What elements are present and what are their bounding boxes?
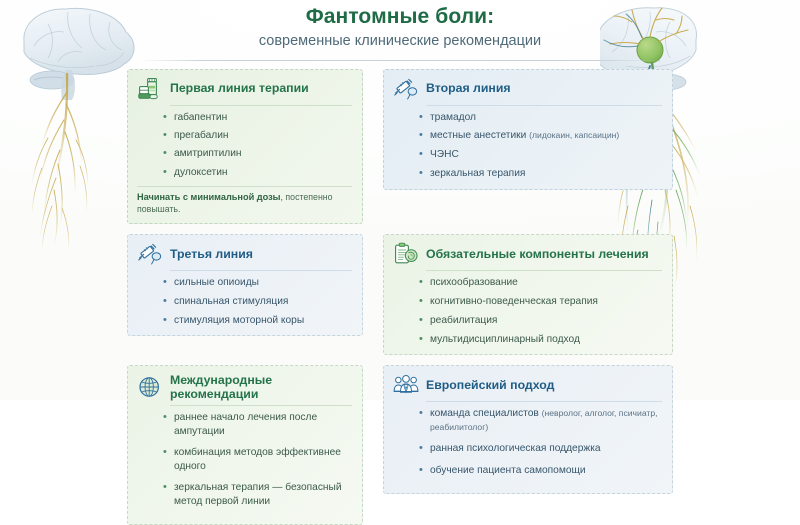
list-item: прегабалин [163,129,352,142]
list-item: спинальная стимуляция [163,295,352,308]
item-note: (лидокаин, капсаицин) [529,130,619,140]
list-item: мультидисциплинарный подход [419,333,662,346]
card-european-approach[interactable]: Европейский подход команда специалистов … [383,365,673,494]
list-item: стимуляция моторной коры [163,314,352,327]
card-title-divider [170,270,352,271]
clipboard-head-icon [393,242,419,266]
list-item: комбинация методов эффективнее одного [163,446,352,473]
page-header: Фантомные боли: современные клинические … [0,0,800,61]
list-item: психообразование [419,276,662,289]
page-title: Фантомные боли: [0,5,800,29]
card-header: Первая линия терапии [137,77,352,101]
list-item: зеркальная терапия [419,167,662,180]
header-divider [140,60,660,61]
card-header: Вторая линия [393,77,662,101]
card-item-list: сильные опиоиды спинальная стимуляция ст… [137,276,352,327]
card-title: Первая линия терапии [170,81,352,95]
card-third-line[interactable]: Третья линия сильные опиоиды спинальная … [127,234,363,336]
card-title-divider [426,401,662,402]
list-item: амитриптилин [163,147,352,160]
card-title: Европейский подход [426,378,662,392]
footer-emphasis: Начинать с минимальной дозы [137,192,281,202]
card-first-line-therapy[interactable]: Первая линия терапии габапентин прегабал… [127,69,363,224]
list-item: сильные опиоиды [163,276,352,289]
page-subtitle: современные клинические рекомендации [0,33,800,50]
list-item: ЧЭНС [419,148,662,161]
team-people-icon [393,373,419,397]
list-item: команда специалистов (невролог, алголог,… [419,407,662,434]
syringe-icon [393,77,419,101]
card-header: Международные рекомендации [137,373,352,401]
list-item: трамадол [419,111,662,124]
recommendations-grid: Первая линия терапии габапентин прегабал… [127,69,673,525]
card-title: Вторая линия [426,81,662,95]
card-title-divider [426,270,662,271]
card-mandatory-components[interactable]: Обязательные компоненты лечения психообр… [383,234,673,355]
list-item: ранная психологическая поддержка [419,442,662,455]
card-title-divider [426,105,662,106]
list-item: зеркальная терапия — безопасный метод пе… [163,481,352,508]
pill-bottle-icon [137,77,163,101]
list-item: реабилитация [419,314,662,327]
card-title: Третья линия [170,247,352,261]
card-international-recommendations[interactable]: Международные рекомендации раннее начало… [127,365,363,525]
card-header: Европейский подход [393,373,662,397]
list-item: обучение пациента самопомощи [419,464,662,477]
list-item: когнитивно-поведенческая терапия [419,295,662,308]
card-title: Обязательные компоненты лечения [426,247,662,261]
card-header: Обязательные компоненты лечения [393,242,662,266]
syringe-icon [137,242,163,266]
card-title: Международные рекомендации [170,373,352,401]
list-item: раннее начало лечения после ампутации [163,411,352,438]
card-item-list: психообразование когнитивно-поведенческа… [393,276,662,346]
list-item: местные анестетики (лидокаин, капсаицин) [419,129,662,142]
card-item-list: трамадол местные анестетики (лидокаин, к… [393,111,662,181]
card-title-divider [170,105,352,106]
card-header: Третья линия [137,242,352,266]
card-second-line[interactable]: Вторая линия трамадол местные анестетики… [383,69,673,190]
list-item: дулоксетин [163,166,352,179]
card-item-list: команда специалистов (невролог, алголог,… [393,407,662,477]
card-footer-note: Начинать с минимальной дозы, постепенно … [137,186,352,214]
card-item-list: габапентин прегабалин амитриптилин дулок… [137,111,352,180]
card-item-list: раннее начало лечения после ампутации ко… [137,411,352,508]
globe-icon [137,375,163,399]
list-item: габапентин [163,111,352,124]
card-title-divider [170,405,352,406]
